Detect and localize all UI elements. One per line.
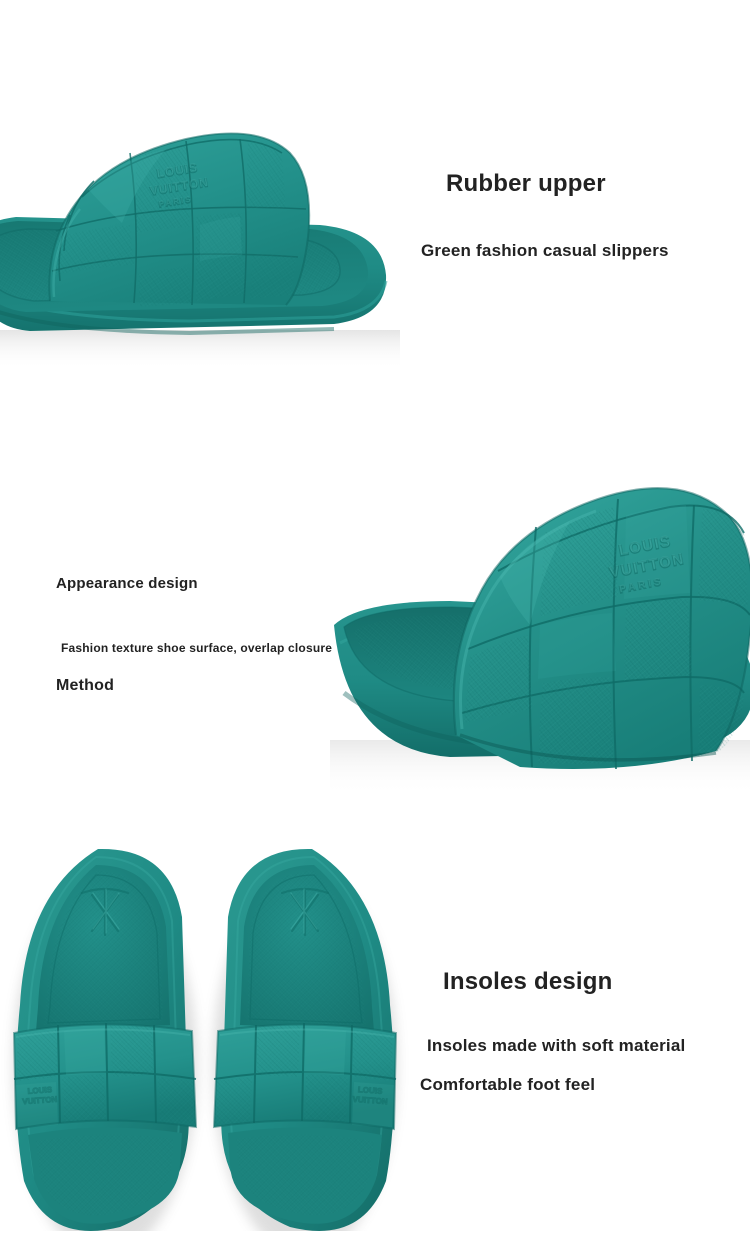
section2-heading: Appearance design bbox=[56, 575, 198, 592]
strap-left: LOUIS VUITTON bbox=[14, 1023, 196, 1129]
strap-group-2: LOUIS VUITTON PARIS LOUIS VUITTON PARIS bbox=[454, 488, 750, 769]
section1-line-1: Green fashion casual slippers bbox=[421, 241, 669, 261]
slipper-right: LOUIS VUITTON bbox=[214, 849, 396, 1231]
product-photo-side-view: LOUIS VUITTON PARIS LOUIS VUITTON PARIS bbox=[0, 105, 400, 370]
svg-text:LOUIS: LOUIS bbox=[27, 1085, 53, 1096]
slipper-left: LOUIS VUITTON bbox=[14, 849, 196, 1231]
strap-right: LOUIS VUITTON bbox=[214, 1023, 396, 1129]
section3-heading: Insoles design bbox=[443, 968, 613, 996]
section3-line-2: Comfortable foot feel bbox=[420, 1075, 595, 1095]
section2-note: Fashion texture shoe surface, overlap cl… bbox=[61, 641, 332, 655]
section-insoles-design: LOUIS VUITTON bbox=[0, 830, 750, 1255]
section1-heading: Rubber upper bbox=[446, 170, 606, 198]
section3-line-1: Insoles made with soft material bbox=[427, 1036, 685, 1056]
strap-group: LOUIS VUITTON PARIS LOUIS VUITTON PARIS bbox=[49, 133, 309, 307]
product-detail-page: LOUIS VUITTON PARIS LOUIS VUITTON PARIS … bbox=[0, 0, 750, 1255]
product-photo-pair-top-view: LOUIS VUITTON bbox=[0, 835, 415, 1255]
section-appearance-design: LOUIS VUITTON PARIS LOUIS VUITTON PARIS bbox=[0, 420, 750, 830]
product-photo-strap-detail: LOUIS VUITTON PARIS LOUIS VUITTON PARIS bbox=[330, 485, 750, 795]
section2-subheading: Method bbox=[56, 677, 114, 695]
section-rubber-upper: LOUIS VUITTON PARIS LOUIS VUITTON PARIS … bbox=[0, 0, 750, 420]
svg-text:LOUIS: LOUIS bbox=[358, 1085, 384, 1096]
